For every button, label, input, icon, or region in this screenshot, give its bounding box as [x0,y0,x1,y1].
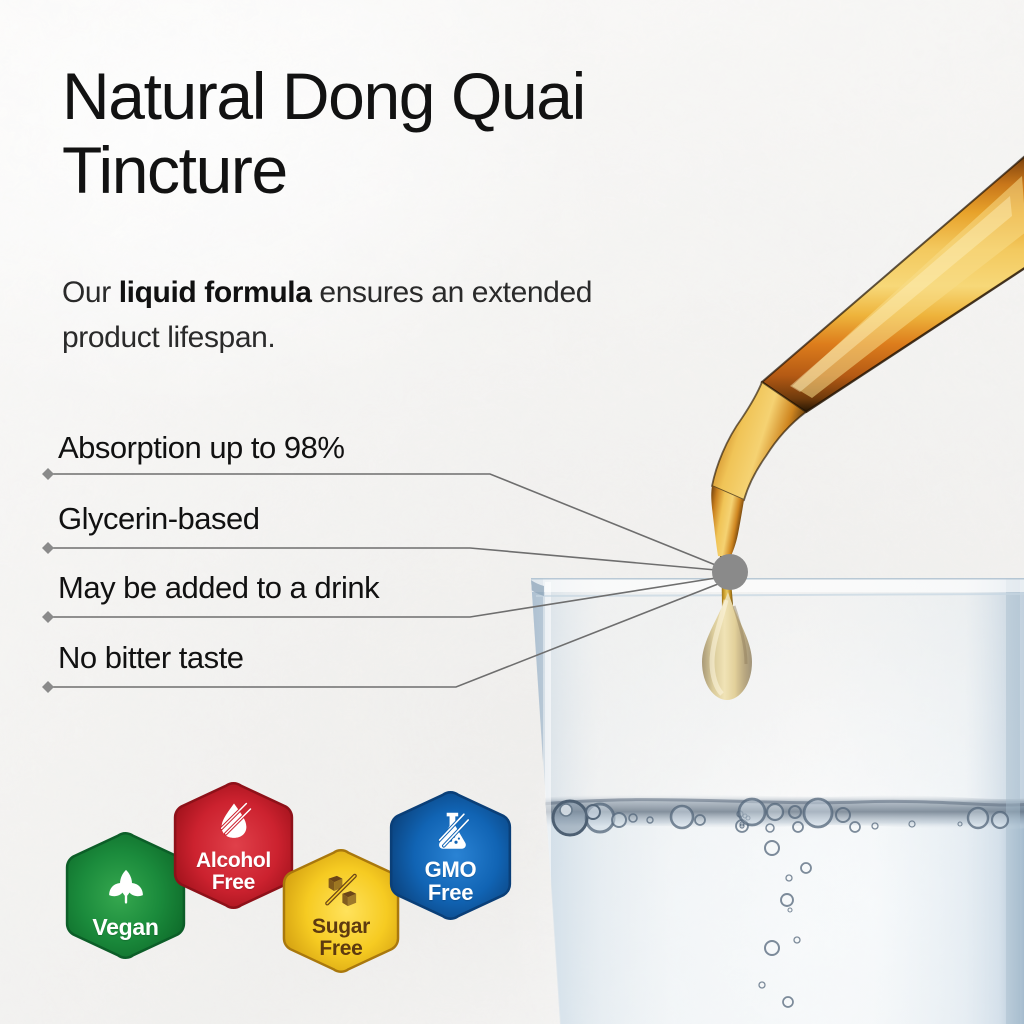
sugar-cubes-slash-icon [279,869,403,913]
callout-label-2: Glycerin-based [58,501,259,537]
flask-slash-icon [386,807,515,853]
badge-alcohol-free: AlcoholFree [170,782,297,909]
badge-label-sugar-line1: Sugar [312,915,370,938]
badge-label-alcohol-line1: Alcohol [196,849,271,872]
subcopy: Our liquid formula ensures an extended p… [62,270,622,360]
callout-label-1: Absorption up to 98% [58,430,344,466]
water-glass [524,578,1024,1024]
badge-label-vegan: Vegan [62,916,189,939]
amber-glass-dropper [711,150,1024,618]
badge-label-gmo-line1: GMO [425,857,477,882]
badge-sugar-free: SugarFree [279,849,403,973]
callout-label-3: May be added to a drink [58,570,379,606]
badge-label-sugar: SugarFree [279,916,403,959]
badge-label-alcohol-line2: Free [212,871,255,894]
subcopy-emphasis: liquid formula [119,276,312,309]
product-infographic: Natural Dong Quai Tincture Our liquid fo… [0,0,1024,1024]
callout-label-4: No bitter taste [58,640,243,676]
subcopy-before: Our [62,276,119,309]
droplet-slash-icon [170,798,297,842]
page-title: Natural Dong Quai Tincture [62,60,782,208]
badge-label-gmo-line2: Free [428,880,473,905]
badge-label-sugar-line2: Free [319,937,362,960]
badge-label-gmo: GMOFree [386,859,515,904]
badge-label-alcohol: AlcoholFree [170,850,297,893]
badge-gmo-free: GMOFree [386,791,515,920]
